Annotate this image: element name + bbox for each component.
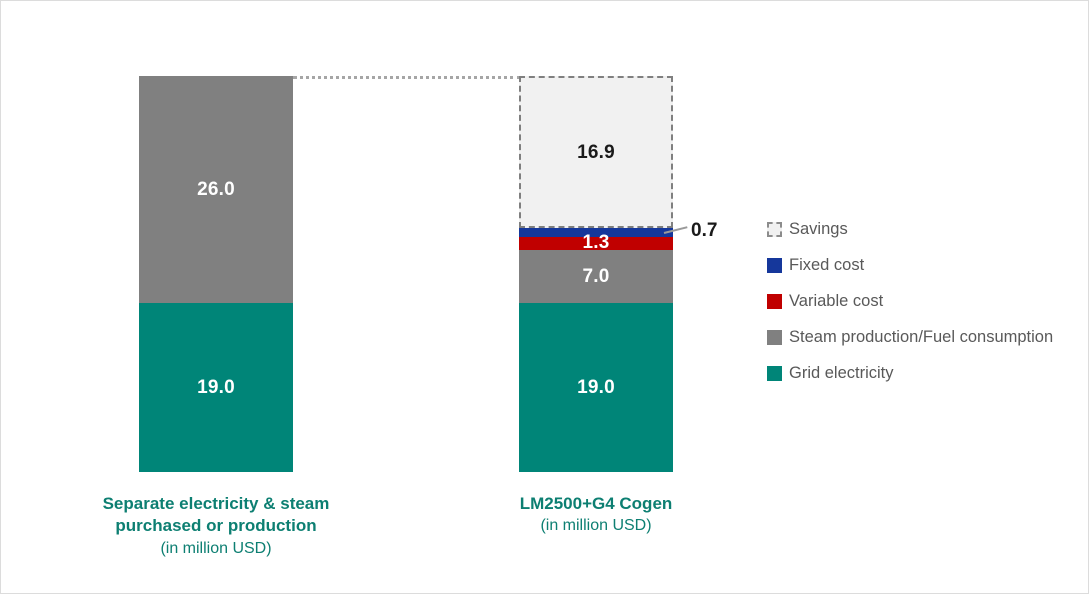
bar2-segment-variable-cost[interactable]: 1.3	[519, 237, 673, 250]
legend-label-steam-production: Steam production/Fuel consumption	[789, 328, 1053, 347]
bar-separate-purchase[interactable]: 26.0 19.0	[139, 76, 293, 472]
bar1-steam-value-label: 26.0	[197, 180, 235, 199]
category-left-line2: purchased or production	[56, 515, 376, 537]
legend-item-grid-electricity[interactable]: Grid electricity	[767, 355, 1082, 391]
legend-item-savings[interactable]: Savings	[767, 211, 1082, 247]
fixed-cost-swatch-icon	[767, 258, 782, 273]
chart-page: 26.0 19.0 16.9 1.3 7.0	[0, 0, 1089, 594]
bar1-grid-value-label: 19.0	[197, 378, 235, 397]
category-label-separate-purchase: Separate electricity & steam purchased o…	[56, 493, 376, 559]
category-left-unit: (in million USD)	[56, 538, 376, 559]
bar2-segment-grid-electricity[interactable]: 19.0	[519, 303, 673, 472]
grid-electricity-swatch-icon	[767, 366, 782, 381]
category-left-line1: Separate electricity & steam	[56, 493, 376, 515]
bar2-segment-steam-production[interactable]: 7.0	[519, 250, 673, 303]
bar2-savings-value-label: 16.9	[577, 143, 615, 162]
legend-label-fixed-cost: Fixed cost	[789, 256, 864, 275]
savings-swatch-icon	[767, 222, 782, 237]
category-right-unit: (in million USD)	[436, 515, 756, 536]
legend-item-variable-cost[interactable]: Variable cost	[767, 283, 1082, 319]
bar1-segment-grid-electricity[interactable]: 19.0	[139, 303, 293, 472]
steam-swatch-icon	[767, 330, 782, 345]
legend-item-steam-production[interactable]: Steam production/Fuel consumption	[767, 319, 1082, 355]
fixed-cost-callout-label: 0.7	[691, 220, 717, 242]
savings-connector-line	[293, 76, 521, 79]
variable-cost-swatch-icon	[767, 294, 782, 309]
legend-item-fixed-cost[interactable]: Fixed cost	[767, 247, 1082, 283]
legend-label-grid-electricity: Grid electricity	[789, 364, 894, 383]
legend-label-variable-cost: Variable cost	[789, 292, 883, 311]
bar2-segment-savings[interactable]: 16.9	[519, 76, 673, 228]
category-label-lm2500-g4-cogen: LM2500+G4 Cogen (in million USD)	[436, 493, 756, 537]
chart-legend: Savings Fixed cost Variable cost Steam p…	[767, 211, 1082, 391]
bar1-segment-steam-production[interactable]: 26.0	[139, 76, 293, 303]
bar2-steam-value-label: 7.0	[582, 267, 609, 286]
bar-lm2500-g4-cogen[interactable]: 16.9 1.3 7.0 19.0	[519, 76, 673, 472]
category-right-line1: LM2500+G4 Cogen	[436, 493, 756, 515]
plot-area: 26.0 19.0 16.9 1.3 7.0	[1, 1, 1089, 594]
legend-label-savings: Savings	[789, 220, 848, 239]
bar2-grid-value-label: 19.0	[577, 378, 615, 397]
